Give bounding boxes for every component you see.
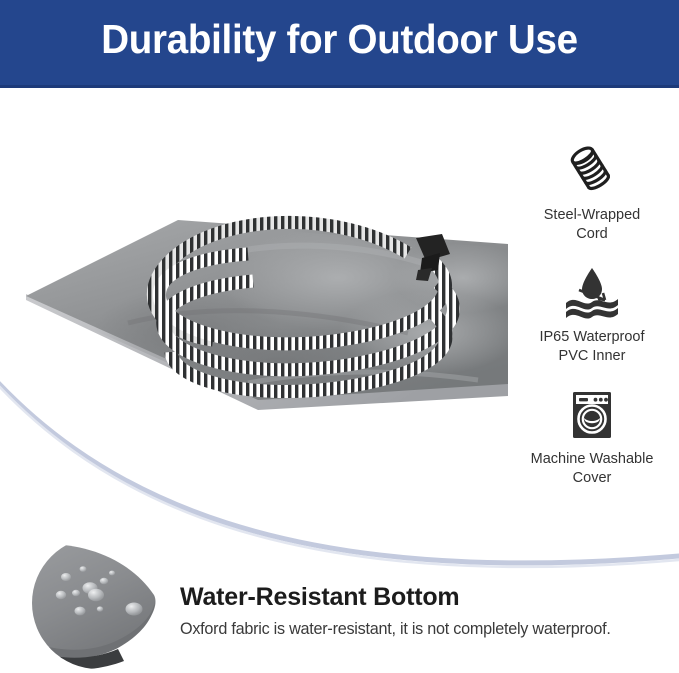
feature-label: IP65 Waterproof PVC Inner — [505, 328, 679, 366]
callout-subtext: Oxford fabric is water-resistant, it is … — [180, 620, 670, 639]
page-title: Durability for Outdoor Use — [20, 16, 658, 63]
feature-steel-wrapped-cord: Steel-Wrapped Cord — [505, 140, 679, 244]
waterproof-layers-droplet-icon — [505, 262, 679, 324]
water-resistant-bottom-callout: Water-Resistant Bottom Oxford fabric is … — [180, 583, 670, 639]
feature-list: Steel-Wrapped Cord IP65 Waterproof PVC I… — [505, 140, 679, 506]
header-banner: Durability for Outdoor Use — [0, 0, 679, 88]
product-photo — [8, 118, 508, 418]
feature-label: Steel-Wrapped Cord — [505, 206, 679, 244]
feature-machine-washable: Machine Washable Cover — [505, 384, 679, 488]
feature-ip65-waterproof: IP65 Waterproof PVC Inner — [505, 262, 679, 366]
washing-machine-icon — [505, 384, 679, 446]
callout-heading: Water-Resistant Bottom — [180, 583, 670, 612]
water-resistant-bottom-photo — [28, 533, 168, 673]
product-infographic: Durability for Outdoor Use — [0, 0, 679, 673]
coiled-steel-cord-icon — [505, 140, 679, 202]
feature-label: Machine Washable Cover — [505, 450, 679, 488]
